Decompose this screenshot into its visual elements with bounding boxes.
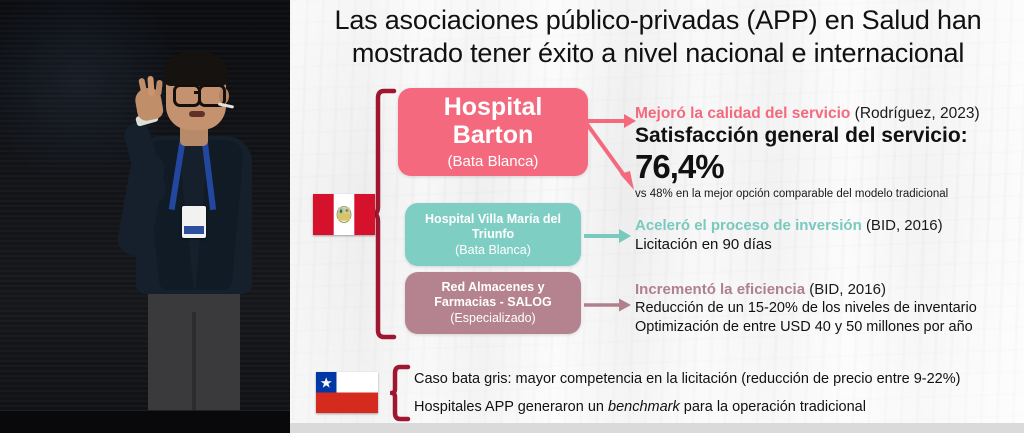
result-barton-headline-row: Mejoró la calidad del servicio (Rodrígue… [635,104,1015,123]
result-salog-detail-1: Reducción de un 15-20% de los niveles de… [635,299,1024,318]
box-red-almacenes-salog-subtitle: (Especializado) [450,310,535,326]
speaker-video-panel [0,0,290,433]
peru-group-brace [374,88,400,340]
box-red-almacenes-salog-title-line2: Farmacias - SALOG [434,295,551,310]
speaker-hair [163,52,229,86]
result-salog-headline-row: Incrementó la eficiencia (BID, 2016) [635,280,1024,299]
result-barton-footnote: vs 48% en la mejor opción comparable del… [635,187,1015,202]
chile-row-2-text-after: para la operación tradicional [680,399,866,415]
screenshot-root: Las asociaciones público-privadas (APP) … [0,0,1024,433]
result-barton-source: (Rodríguez, 2023) [855,105,980,122]
slide-title: Las asociaciones público-privadas (APP) … [302,4,1014,70]
result-salog-source: (BID, 2016) [809,281,886,298]
box-hospital-barton-title-line2: Barton [453,121,534,149]
speaker-badge [182,206,206,238]
stage-floor [0,411,290,433]
speaker-finger [147,76,154,96]
slide-bottom-strip [290,423,1024,433]
peru-flag [313,194,375,235]
result-text-villa-maria: Aceleró el proceso de inversión (BID, 20… [635,216,1015,255]
box-hospital-villa-maria-title-line1: Hospital Villa María del [425,212,561,227]
box-hospital-villa-maria-title-line2: Triunfo [472,227,514,242]
arrow-salog [583,296,633,319]
speaker-glasses-bridge [194,91,200,94]
box-red-almacenes-salog-title-line1: Red Almacenes y [441,280,544,295]
box-hospital-barton-subtitle: (Bata Blanca) [448,151,539,172]
result-salog-headline: Incrementó la eficiencia [635,281,805,298]
box-hospital-villa-maria[interactable]: Hospital Villa María del Triunfo (Bata B… [405,203,581,266]
box-hospital-villa-maria-subtitle: (Bata Blanca) [455,242,531,258]
arrow-villa-maria [583,227,633,250]
speaker-mouth [189,111,205,117]
result-barton-headline: Mejoró la calidad del servicio [635,105,850,122]
result-villa-detail-1: Licitación en 90 días [635,235,1015,255]
box-hospital-barton-title-line1: Hospital [444,93,543,121]
result-text-barton: Mejoró la calidad del servicio (Rodrígue… [635,104,1015,202]
chile-row-1: Caso bata gris: mayor competencia en la … [414,370,1014,389]
chile-row-2: Hospitales APP generaron un benchmark pa… [414,398,1014,417]
chile-row-2-italic-term: benchmark [608,399,680,415]
chile-group-brace [390,364,412,422]
chile-flag [316,372,378,413]
speaker-figure [118,48,270,428]
result-barton-metric: 76,4% [635,148,1015,186]
presentation-slide: Las asociaciones público-privadas (APP) … [290,0,1024,433]
result-villa-headline-row: Aceleró el proceso de inversión (BID, 20… [635,216,1015,235]
box-red-almacenes-salog[interactable]: Red Almacenes y Farmacias - SALOG (Espec… [405,272,581,334]
result-salog-detail-2: Optimización de entre USD 40 y 50 millon… [635,318,1024,337]
chile-row-2-text-before: Hospitales APP generaron un [414,399,608,415]
result-villa-headline: Aceleró el proceso de inversión [635,217,862,234]
result-text-salog: Incrementó la eficiencia (BID, 2016) Red… [635,280,1024,337]
speaker-glasses-lens-left [173,84,201,107]
box-hospital-barton[interactable]: Hospital Barton (Bata Blanca) [398,88,588,176]
result-villa-source: (BID, 2016) [866,217,943,234]
speaker-finger [155,80,163,97]
chile-row-1-text: Caso bata gris: mayor competencia en la … [414,371,960,387]
result-barton-line2: Satisfacción general del servicio: [635,123,1015,148]
